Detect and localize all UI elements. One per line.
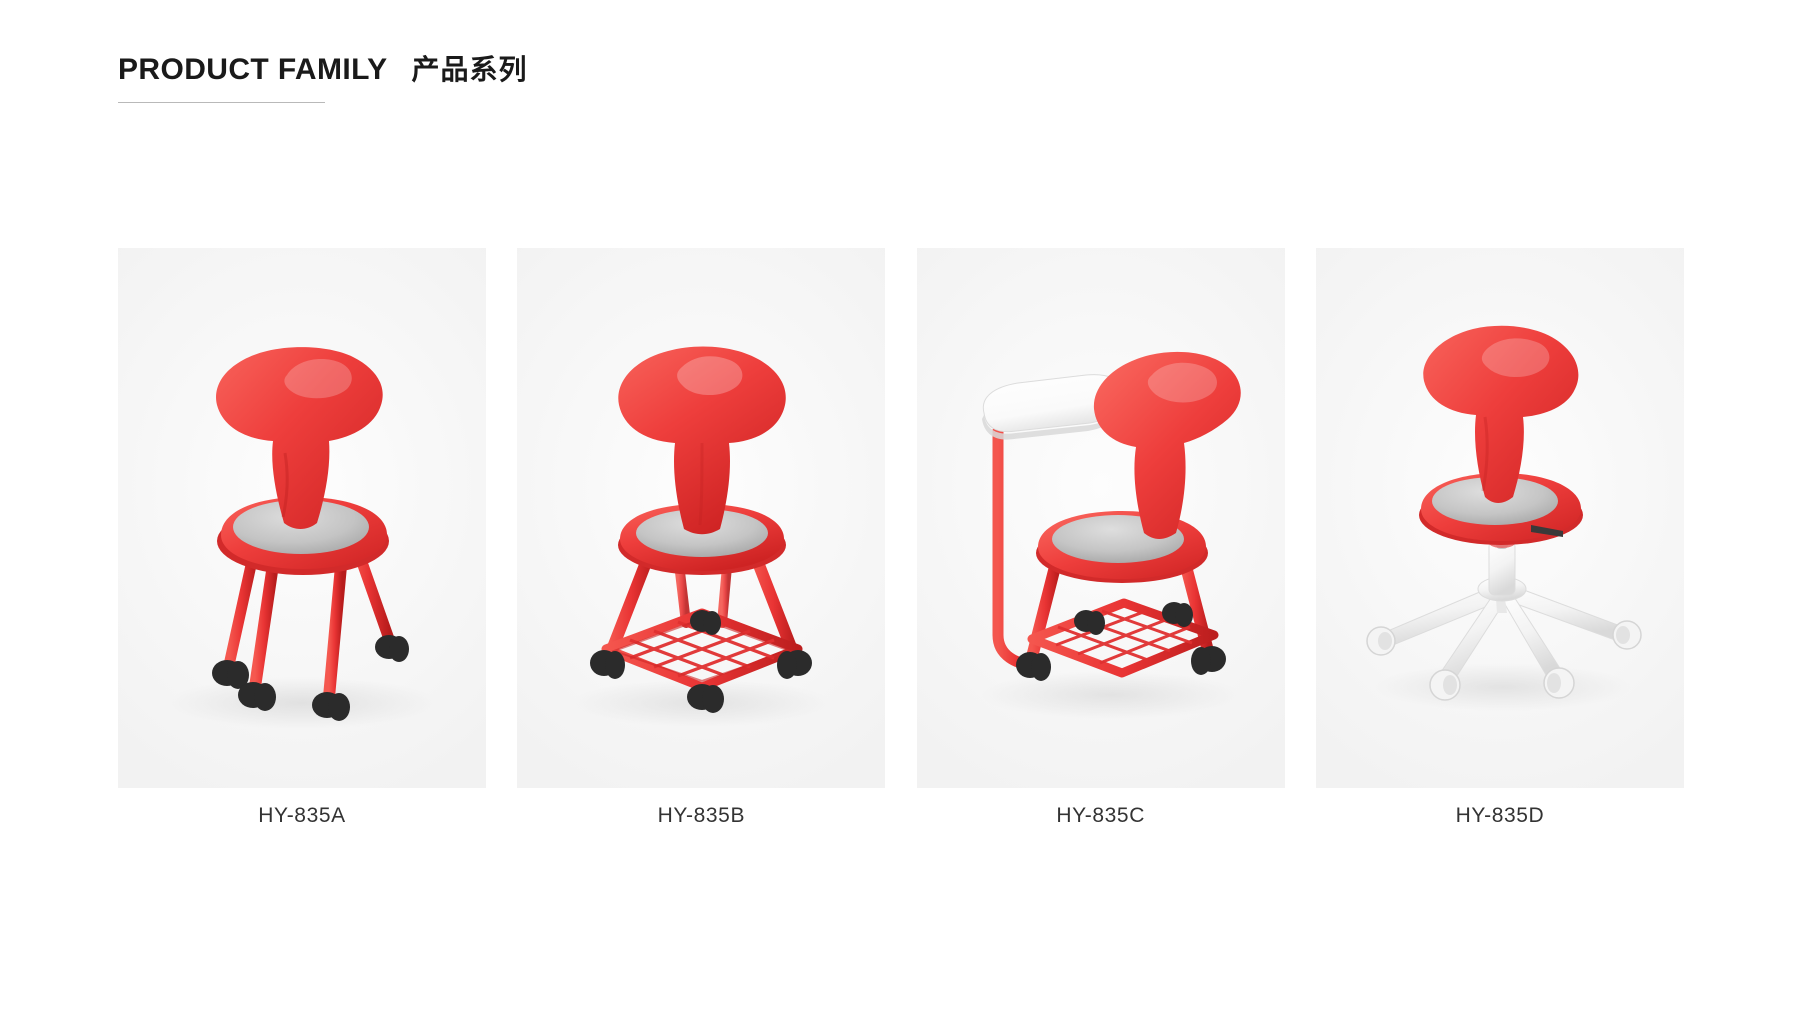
chair-illustration-tablet-arm xyxy=(936,283,1266,753)
page-title-english: PRODUCT FAMILY xyxy=(118,53,388,87)
product-card-hy-835a[interactable]: HY-835A xyxy=(118,248,486,848)
title-divider xyxy=(118,102,325,103)
product-card-hy-835b[interactable]: HY-835B xyxy=(517,248,885,848)
product-image-hy-835b xyxy=(517,248,885,788)
tablet-arm-support xyxy=(998,431,1036,665)
page-title: PRODUCT FAMILY 产品系列 xyxy=(118,48,528,88)
chair-illustration-swivel-base xyxy=(1335,283,1665,753)
product-grid: HY-835A xyxy=(118,248,1684,848)
product-label: HY-835A xyxy=(258,804,345,828)
product-image-hy-835a xyxy=(118,248,486,788)
page-header: PRODUCT FAMILY 产品系列 xyxy=(118,48,528,88)
product-image-hy-835d xyxy=(1316,248,1684,788)
product-image-hy-835c xyxy=(917,248,1285,788)
chair-illustration-four-leg xyxy=(137,283,467,753)
product-card-hy-835c[interactable]: HY-835C xyxy=(917,248,1285,848)
product-family-page: PRODUCT FAMILY 产品系列 xyxy=(0,0,1800,1013)
product-label: HY-835B xyxy=(658,804,745,828)
product-card-hy-835d[interactable]: HY-835D xyxy=(1316,248,1684,848)
chair-illustration-basket-sled xyxy=(536,283,866,753)
product-label: HY-835D xyxy=(1456,804,1545,828)
product-label: HY-835C xyxy=(1056,804,1145,828)
page-title-chinese: 产品系列 xyxy=(412,48,528,88)
